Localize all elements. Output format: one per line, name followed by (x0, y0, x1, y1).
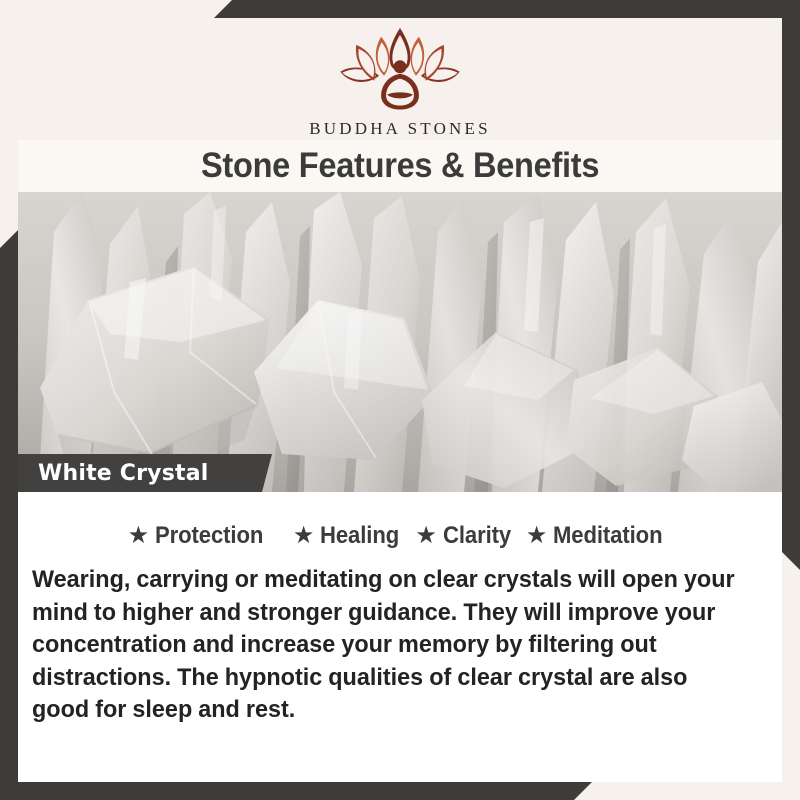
poster-inner: BUDDHA STONES Stone Features & Benefits (18, 18, 782, 782)
brand-name: BUDDHA STONES (18, 119, 782, 139)
brand-logo: BUDDHA STONES (18, 24, 782, 139)
lotus-meditation-figure-icon (325, 24, 475, 116)
description-text: Wearing, carrying or meditating on clear… (32, 564, 743, 727)
title-band: Stone Features & Benefits (18, 140, 782, 192)
benefit-label: Protection (155, 522, 263, 550)
benefit-label: Healing (320, 522, 399, 550)
benefit-item-healing: ★ Healing (293, 522, 407, 550)
star-icon: ★ (526, 524, 548, 548)
benefit-item-meditation: ★ Meditation (526, 522, 673, 550)
frame-bar-right (782, 0, 800, 800)
stone-name-label: White Crystal (38, 461, 209, 486)
star-icon: ★ (128, 524, 150, 548)
benefit-item-protection: ★ Protection (128, 522, 273, 550)
crystal-cluster-image (18, 192, 782, 492)
frame-bar-bottom (0, 782, 800, 800)
stone-name-chip: White Crystal (18, 454, 272, 492)
stone-photo: White Crystal (18, 192, 782, 492)
poster: BUDDHA STONES Stone Features & Benefits (0, 0, 800, 800)
benefits-list: ★ Protection ★ Healing ★ Clarity ★ Medit… (18, 522, 782, 550)
page-title: Stone Features & Benefits (201, 146, 599, 186)
frame-bar-top (0, 0, 800, 18)
benefit-label: Clarity (443, 522, 511, 550)
benefit-item-clarity: ★ Clarity (415, 522, 517, 550)
star-icon: ★ (293, 524, 315, 548)
crystal-illustration (18, 192, 782, 492)
benefit-label: Meditation (553, 522, 662, 550)
header: BUDDHA STONES Stone Features & Benefits (18, 18, 782, 192)
frame-bar-left (0, 0, 18, 800)
body-panel: ★ Protection ★ Healing ★ Clarity ★ Medit… (18, 492, 782, 782)
star-icon: ★ (415, 524, 437, 548)
